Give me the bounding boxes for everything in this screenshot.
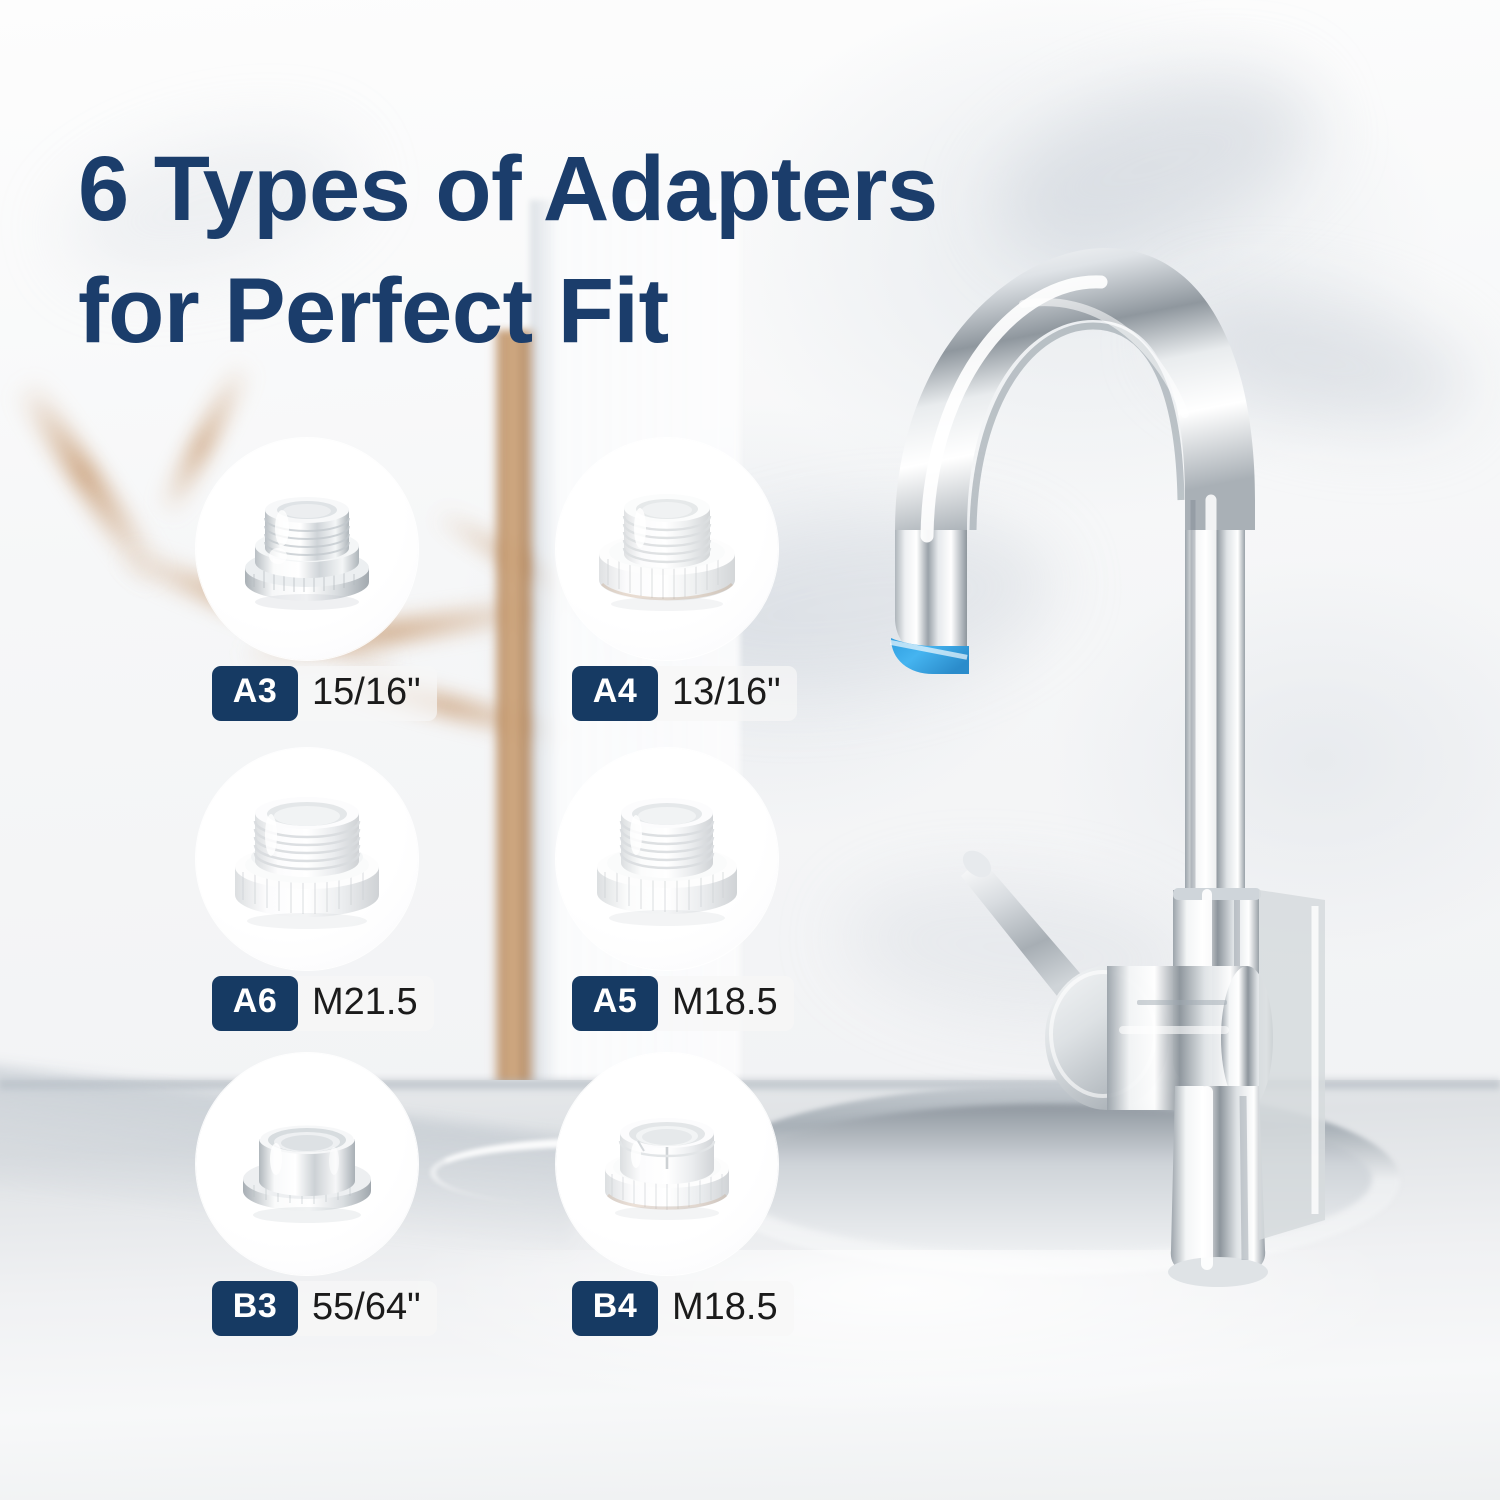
adapter-code-badge: B4: [572, 1281, 658, 1336]
adapter-photo-bubble: [556, 438, 778, 660]
adapter-code-badge: B3: [212, 1281, 298, 1336]
adapter-label-row: B3 55/64": [212, 1281, 437, 1336]
product-infographic: 6 Types of Adapters for Perfect Fit: [0, 0, 1500, 1500]
adapter-label-row: A4 13/16": [572, 666, 797, 721]
adapter-size-text: 13/16": [658, 666, 797, 721]
adapter-grid: A3 15/16": [0, 0, 1500, 1500]
adapter-b4-icon: [574, 1071, 760, 1257]
adapter-a3-icon: [212, 454, 402, 644]
adapter-photo-bubble: [196, 438, 418, 660]
adapter-label-row: A3 15/16": [212, 666, 437, 721]
adapter-a4-icon: [572, 454, 762, 644]
adapter-size-text: 55/64": [298, 1281, 437, 1336]
adapter-code-badge: A6: [212, 976, 298, 1031]
adapter-card-b3[interactable]: B3 55/64": [196, 1053, 576, 1336]
adapter-card-b4[interactable]: B4 M18.5: [556, 1053, 936, 1336]
adapter-card-a5[interactable]: A5 M18.5: [556, 748, 936, 1031]
adapter-label-row: A5 M18.5: [572, 976, 794, 1031]
adapter-code-badge: A4: [572, 666, 658, 721]
adapter-card-a3[interactable]: A3 15/16": [196, 438, 576, 721]
adapter-label-row: B4 M18.5: [572, 1281, 794, 1336]
adapter-size-text: M18.5: [658, 976, 794, 1031]
adapter-photo-bubble: [196, 1053, 418, 1275]
adapter-size-text: 15/16": [298, 666, 437, 721]
adapter-a5-icon: [571, 763, 763, 955]
adapter-photo-bubble: [556, 1053, 778, 1275]
adapter-card-a4[interactable]: A4 13/16": [556, 438, 936, 721]
adapter-size-text: M21.5: [298, 976, 434, 1031]
adapter-code-badge: A5: [572, 976, 658, 1031]
adapter-a6-icon: [209, 761, 405, 957]
adapter-b3-icon: [212, 1069, 402, 1259]
adapter-photo-bubble: [196, 748, 418, 970]
adapter-card-a6[interactable]: A6 M21.5: [196, 748, 576, 1031]
adapter-size-text: M18.5: [658, 1281, 794, 1336]
adapter-code-badge: A3: [212, 666, 298, 721]
adapter-label-row: A6 M21.5: [212, 976, 434, 1031]
adapter-photo-bubble: [556, 748, 778, 970]
